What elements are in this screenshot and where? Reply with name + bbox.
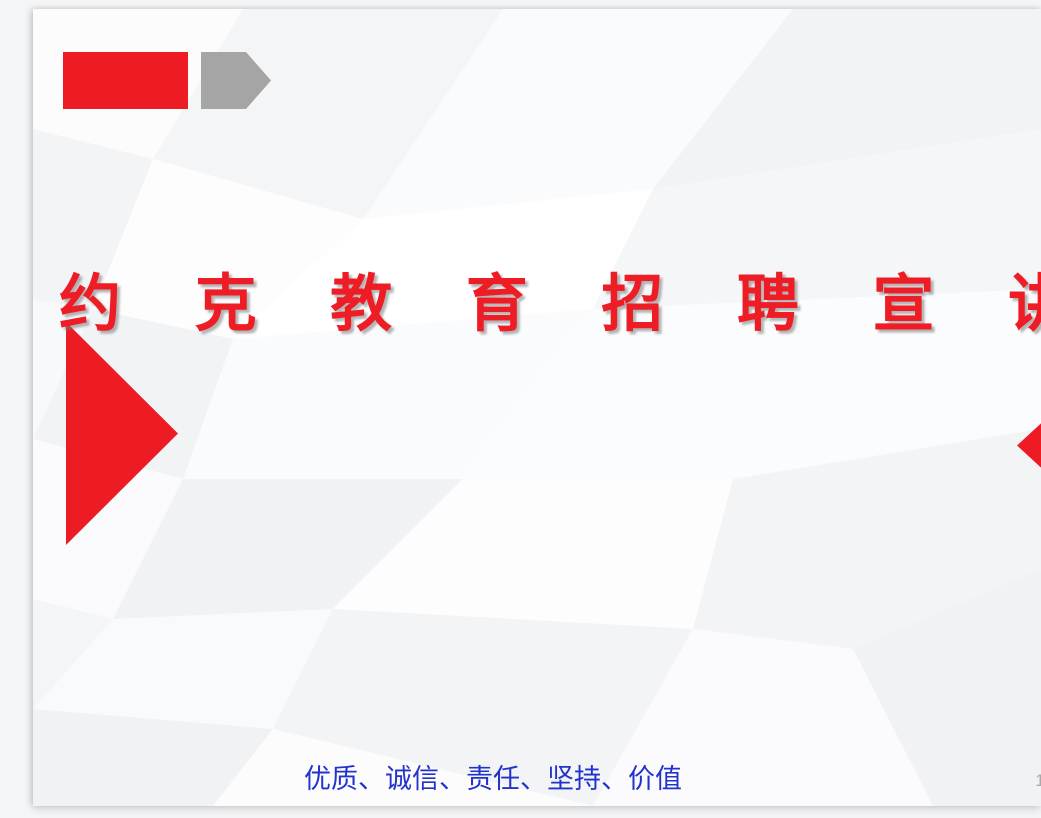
slide-title: 约 克 教 育 招 聘 宣 讲 [33,267,1041,341]
page-number: 1 [1018,769,1041,793]
footer-slogan: 优质、诚信、责任、坚持、价值 [33,762,953,798]
presentation-viewport: 约 克 教 育 招 聘 宣 讲 优质、诚信、责任、坚持、价值 1 [0,0,1041,818]
left-red-triangle-decoration [66,322,178,545]
red-bar-decoration [63,52,188,109]
gray-arrow-decoration [201,52,271,109]
right-red-triangle-decoration [1017,393,1041,498]
low-poly-background [33,9,1041,806]
slide-canvas[interactable]: 约 克 教 育 招 聘 宣 讲 优质、诚信、责任、坚持、价值 1 [33,9,1041,806]
